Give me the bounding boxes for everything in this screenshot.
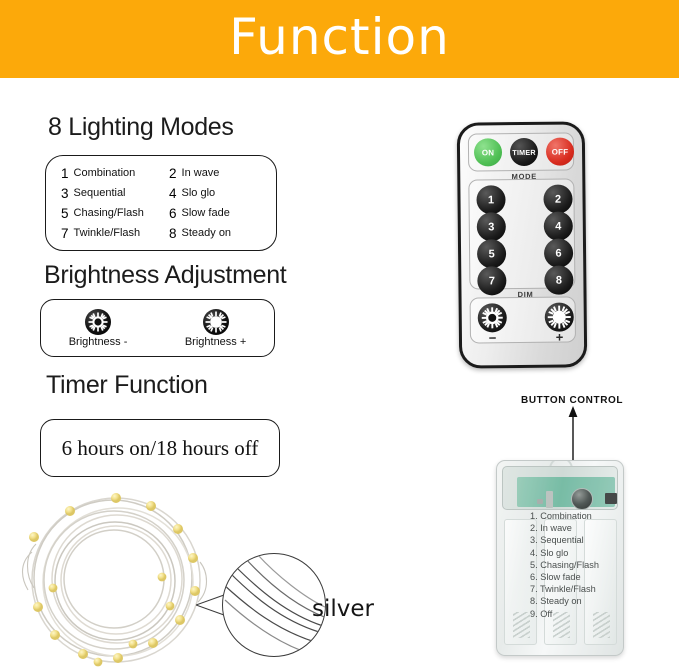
printed-mode-item: 5. Chasing/Flash — [530, 559, 599, 571]
brightness-down-label: Brightness - — [69, 336, 128, 348]
timer-heading: Timer Function — [46, 371, 208, 400]
remote-number-button-3[interactable]: 3 — [477, 212, 506, 241]
printed-mode-item: 9. Off — [530, 608, 599, 620]
printed-mode-item: 6. Slow fade — [530, 571, 599, 583]
page-title: Function — [229, 12, 450, 62]
printed-mode-item: 2. In wave — [530, 522, 599, 534]
mode-number: 1 — [61, 166, 69, 181]
mode-number: 4 — [169, 186, 177, 201]
brightness-up-item: Brightness + — [185, 309, 246, 348]
pcb-component — [605, 493, 617, 504]
control-button[interactable] — [571, 488, 593, 510]
mode-number: 7 — [61, 226, 69, 241]
remote-number-button-4[interactable]: 4 — [544, 211, 573, 240]
remote-dim-up-sign: + — [545, 329, 574, 344]
mode-number: 5 — [61, 206, 69, 221]
mode-label: Steady on — [182, 227, 232, 239]
circuit-board — [517, 477, 615, 507]
lighting-modes-heading: 8 Lighting Modes — [48, 113, 234, 142]
led-string-coil — [12, 492, 232, 668]
mode-number: 6 — [169, 206, 177, 221]
remote-timer-button[interactable]: TIMER — [510, 138, 538, 166]
printed-mode-item: 4. Slo glo — [530, 547, 599, 559]
remote-dim-up-button[interactable] — [545, 302, 574, 331]
mode-item: 1 Combination — [61, 163, 169, 183]
remote-on-button[interactable]: ON — [474, 138, 502, 166]
brightness-heading: Brightness Adjustment — [44, 261, 286, 290]
mode-item: 6 Slow fade — [169, 203, 277, 223]
mode-number: 3 — [61, 186, 69, 201]
mode-item: 7 Twinkle/Flash — [61, 223, 169, 243]
pcb-component — [546, 491, 553, 508]
remote-number-button-2[interactable]: 2 — [543, 184, 572, 213]
remote-number-button-5[interactable]: 5 — [477, 239, 506, 268]
timer-value: 6 hours on/18 hours off — [40, 419, 280, 477]
pcb-component — [537, 499, 543, 504]
page-header-banner: Function — [0, 0, 679, 78]
lighting-modes-list: 1 Combination 2 In wave 3 Sequential 4 S… — [45, 155, 277, 251]
mode-label: Slow fade — [182, 207, 230, 219]
battery-box-lid — [502, 466, 618, 510]
battery-box: 1. Combination 2. In wave 3. Sequential … — [496, 460, 624, 656]
mode-item: 2 In wave — [169, 163, 277, 183]
battery-spring-icon — [513, 612, 530, 638]
brightness-down-icon — [85, 309, 111, 335]
remote-control: ON TIMER OFF MODE 1 2 3 4 5 6 7 8 DIM — [457, 121, 588, 368]
printed-mode-item: 3. Sequential — [530, 534, 599, 546]
mode-item: 3 Sequential — [61, 183, 169, 203]
remote-off-button[interactable]: OFF — [546, 137, 574, 165]
printed-mode-item: 1. Combination — [530, 510, 599, 522]
printed-mode-item: 8. Steady on — [530, 595, 599, 607]
remote-number-button-1[interactable]: 1 — [476, 185, 505, 214]
printed-mode-item: 7. Twinkle/Flash — [530, 583, 599, 595]
remote-dim-down-sign: − — [478, 330, 507, 345]
brightness-up-label: Brightness + — [185, 336, 246, 348]
mode-number: 8 — [169, 226, 177, 241]
brightness-buttons-row: Brightness - Brightness + — [40, 299, 275, 357]
button-control-label: BUTTON CONTROL — [521, 395, 623, 406]
remote-number-button-6[interactable]: 6 — [544, 238, 573, 267]
battery-box-printed-modes: 1. Combination 2. In wave 3. Sequential … — [530, 510, 599, 620]
mode-label: Chasing/Flash — [74, 207, 144, 219]
mode-number: 2 — [169, 166, 177, 181]
mode-label: In wave — [182, 167, 220, 179]
mode-item: 4 Slo glo — [169, 183, 277, 203]
mode-label: Sequential — [74, 187, 126, 199]
mode-label: Slo glo — [182, 187, 216, 199]
wire-material-label: silver — [312, 596, 374, 622]
brightness-up-icon — [203, 309, 229, 335]
remote-dim-down-button[interactable] — [478, 303, 507, 332]
mode-label: Combination — [74, 167, 136, 179]
wire-magnifier-view — [222, 553, 326, 657]
mode-item: 5 Chasing/Flash — [61, 203, 169, 223]
mode-item: 8 Steady on — [169, 223, 277, 243]
mode-label: Twinkle/Flash — [74, 227, 141, 239]
brightness-down-item: Brightness - — [69, 309, 128, 348]
